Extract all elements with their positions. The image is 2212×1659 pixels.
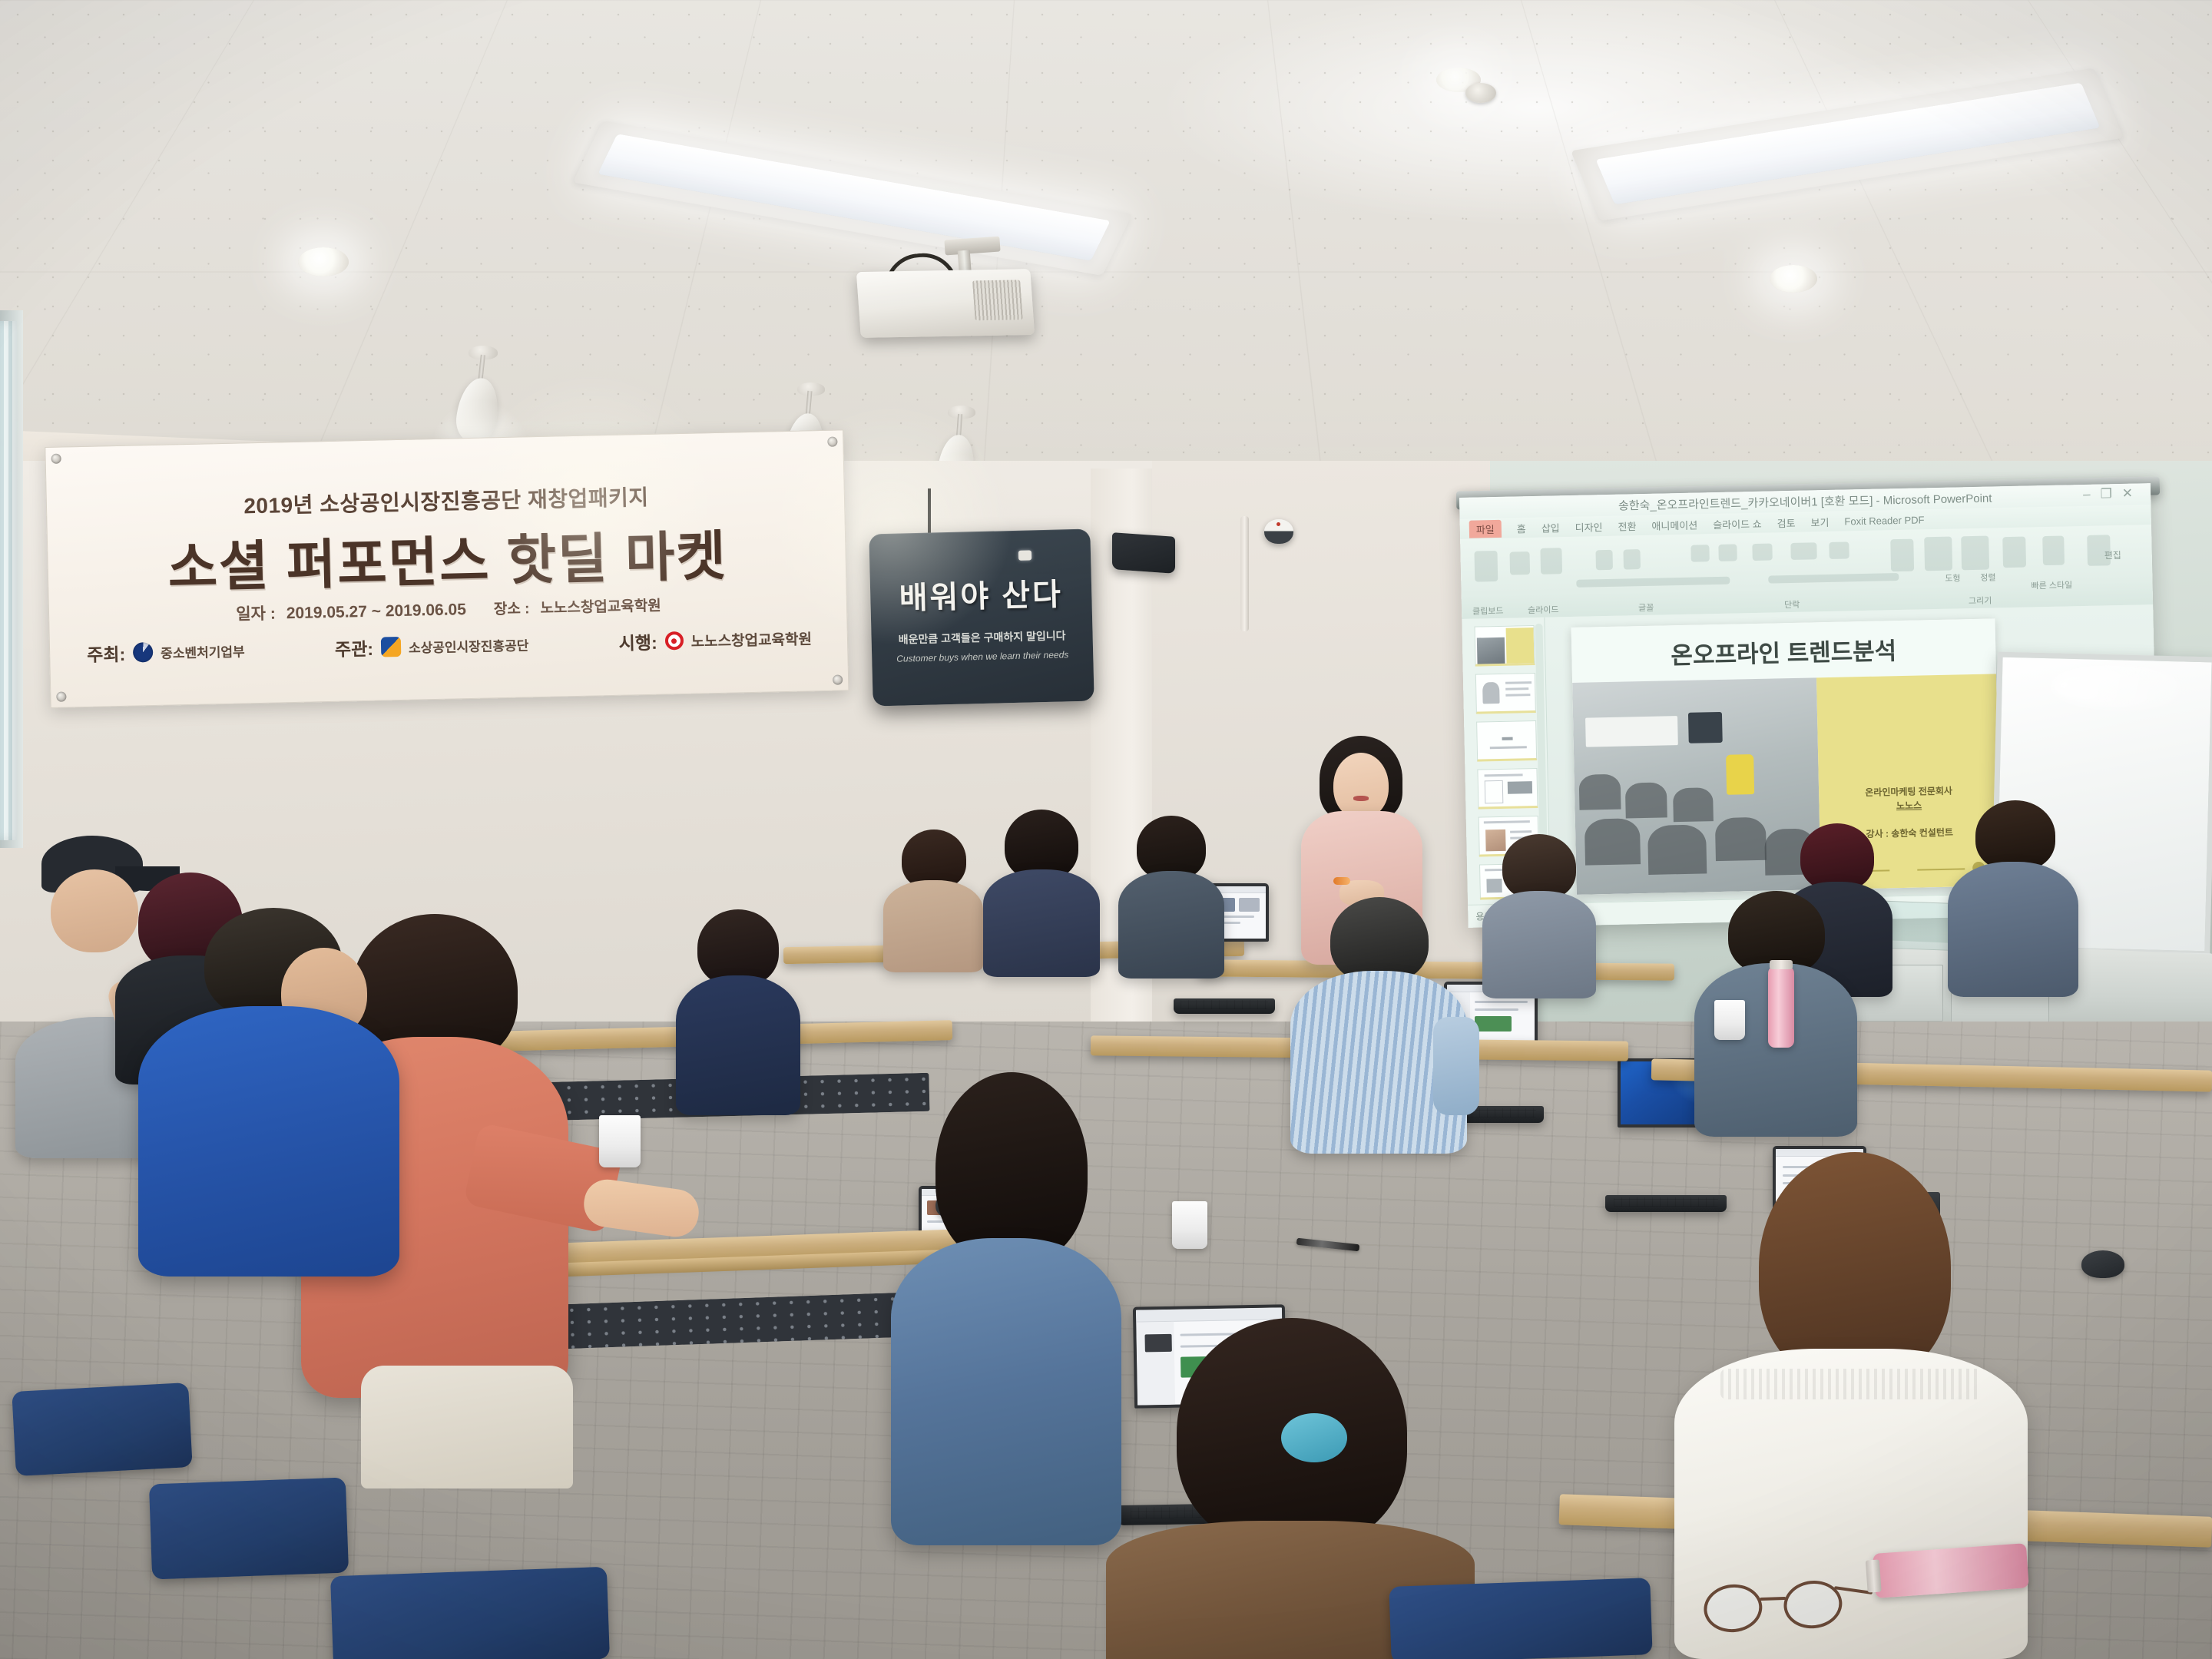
presenter-mouth [1353,796,1369,801]
tab-view[interactable]: 보기 [1810,514,1829,528]
banner-place: 노노스창업교육학원 [540,594,661,618]
banner-org-manager: 주관: 소상공인시장진흥공단 [335,631,529,661]
glasses-bridge [1760,1597,1786,1601]
hair-scrunchie [1281,1413,1347,1462]
classroom-photo-scene: 2019년 소상공인시장진흥공단 재창업패키지 소셜 퍼포먼스 핫딜 마켓 일자… [0,0,2212,1659]
slide-thumbnail-4[interactable]: 4 [1477,768,1538,810]
slide-thumbnail-2[interactable]: 2 [1475,673,1536,714]
slide-thumbnail-1[interactable]: 1 [1475,625,1535,667]
vertical-blinds [0,321,17,840]
glasses-lens-left [1701,1581,1764,1635]
cctv-camera-icon [1264,519,1293,544]
coral-pants [361,1366,573,1488]
slide-thumbnail-3[interactable]: 3 [1476,720,1537,762]
chair-cushion-foreground[interactable] [1389,1578,1652,1659]
org-name-manager: 소상공인시장진흥공단 [409,634,529,656]
org-role-manager: 주관: [335,634,374,661]
ribbon-label-quickstyles: 빠른 스타일 [2031,578,2072,591]
org-name-host: 중소벤처기업부 [161,641,245,661]
ceiling-projector [856,269,1035,338]
moss-logo-icon [133,642,154,663]
ribbon-label-shapes: 도형 [1945,571,1961,584]
tab-design[interactable]: 디자인 [1575,519,1602,535]
ribbon-group-drawing: 그리기 [1969,594,1992,608]
sign-bulb-icon [1018,550,1031,560]
banner-place-label: 장소 : [494,597,530,618]
laptop-back-1-base[interactable] [1174,998,1275,1014]
banner-org-host: 주최: 중소벤처기업부 [87,637,245,666]
wall-speaker-icon [1112,532,1175,574]
window-controls-icon: –❐✕ [2083,485,2143,502]
sign-hanging-wire [928,488,931,538]
sign-title: 배워야 산다 [870,568,1092,618]
ribbon-group-font: 글꼴 [1638,601,1654,614]
attendee-back-4 [1482,834,1596,992]
tab-home[interactable]: 홈 [1517,521,1526,535]
ribbon-group-slides: 슬라이드 [1528,603,1559,616]
paper-cup-front-left[interactable] [599,1115,641,1167]
tab-insert[interactable]: 삽입 [1541,520,1560,535]
powerpoint-ribbon[interactable]: 클립보드 슬라이드 글꼴 단락 그리기 편집 도형 정렬 빠른 스타일 [1460,525,2153,619]
attendee-back-2 [983,810,1100,972]
downlight-left [298,247,349,276]
denim-jacket [891,1238,1121,1545]
banner-org-operator: 시행: 노노스창업교육학원 [618,624,812,654]
attendee-mid-1 [676,909,800,1109]
motto-sign: 배워야 산다 배운만큼 고객들은 구매하지 말입니다 Customer buys… [869,529,1094,707]
smoke-detector-icon [1465,83,1496,103]
tab-foxit[interactable]: Foxit Reader PDF [1844,514,1924,527]
sign-subtitle: 배운만큼 고객들은 구매하지 말입니다 [871,627,1092,647]
ribbon-group-editing: 편집 [2104,548,2121,561]
paper-cup-mid[interactable] [1172,1201,1207,1249]
blouse-pleats [1720,1369,1982,1399]
tab-slideshow[interactable]: 슬라이드 쇼 [1713,515,1762,531]
paper-cup-right[interactable] [1714,1000,1745,1040]
banner-date-range: 2019.05.27 ~ 2019.06.05 [286,601,467,623]
nonos-logo-icon [664,631,684,651]
tab-file[interactable]: 파일 [1469,519,1502,538]
tab-review[interactable]: 검토 [1777,515,1795,529]
tab-animation[interactable]: 애니메이션 [1651,517,1697,532]
org-role-operator: 시행: [618,628,657,655]
chair-cushion-left-3[interactable] [330,1567,610,1659]
attendee-blue-polo [138,908,399,1277]
chair-cushion-left-2[interactable] [149,1478,349,1580]
chair-cushion-left-1[interactable] [12,1382,192,1476]
org-role-host: 주최: [87,640,126,667]
presenter-face [1333,753,1389,819]
banner-date-label: 일자 : [236,601,276,625]
attendee-back-6 [1948,800,2078,992]
event-banner: 2019년 소상공인시장진흥공단 재창업패키지 소셜 퍼포먼스 핫딜 마켓 일자… [45,429,849,708]
blue-polo [138,1006,399,1277]
ribbon-group-paragraph: 단락 [1784,598,1800,611]
downlight-right [1770,265,1817,293]
tab-transition[interactable]: 전환 [1618,518,1636,533]
attendee-back-3 [1118,816,1224,974]
attendee-denim [891,1072,1121,1564]
presenter-bracelet [1333,877,1350,885]
org-name-operator: 노노스창업교육학원 [690,628,812,651]
attendee-back-1 [883,829,983,968]
wall-conduit [1240,516,1249,631]
attendee-mid-striped [1290,897,1467,1151]
slide-header-title: 온오프라인 트렌드분석 [1571,618,1996,683]
ribbon-label-arrange: 정렬 [1980,571,1996,583]
sign-english: Customer buys when we learn their needs [872,648,1093,664]
mouse-right[interactable] [2081,1250,2124,1278]
pink-tumbler-back[interactable] [1768,966,1794,1048]
semas-logo-icon [381,637,402,657]
ribbon-group-clipboard: 클립보드 [1472,604,1504,618]
